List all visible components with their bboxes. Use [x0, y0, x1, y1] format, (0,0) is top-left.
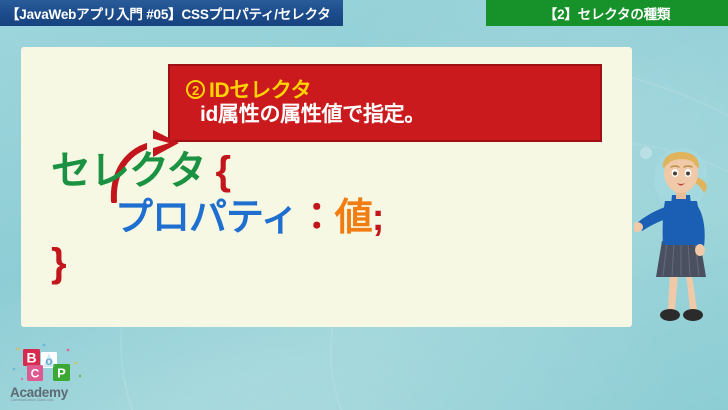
section-title-text: 【2】セレクタの種類 — [544, 3, 670, 23]
token-close-brace: } — [51, 241, 66, 285]
token-property: プロパティ — [115, 197, 298, 239]
token-selector: セレクタ — [51, 149, 205, 193]
syntax-line-declaration: プロパティ：値; — [51, 199, 383, 237]
instructor-avatar — [634, 135, 728, 335]
svg-text:B: B — [26, 350, 36, 366]
section-title-bar: 【2】セレクタの種類 — [486, 0, 728, 26]
callout-description: id属性の属性値で指定。 — [186, 102, 590, 127]
svg-text:C: C — [31, 367, 40, 381]
callout-heading-row: 2IDセレクタ — [186, 79, 590, 103]
course-title-text: 【JavaWebアプリ入門 #05】CSSプロパティ/セレクタ — [6, 3, 331, 23]
token-semicolon: ; — [372, 197, 384, 239]
css-syntax-block: セレクタ { プロパティ：値; } — [51, 151, 383, 283]
callout-number-badge: 2 — [186, 80, 205, 99]
token-value: 値 — [335, 197, 372, 239]
academy-logo-tagline: Communication Class club — [11, 398, 89, 402]
academy-logo-mark: B o C P — [10, 343, 88, 389]
course-title-bar: 【JavaWebアプリ入門 #05】CSSプロパティ/セレクタ — [0, 0, 343, 26]
content-panel: 2IDセレクタ id属性の属性値で指定。 セレクタ { プロパティ：値; } — [21, 47, 632, 327]
syntax-line-close: } — [51, 243, 383, 283]
callout-box: 2IDセレクタ id属性の属性値で指定。 — [168, 64, 602, 142]
svg-text:P: P — [57, 366, 66, 381]
syntax-line-selector: セレクタ { — [51, 151, 383, 191]
slide-canvas: 【JavaWebアプリ入門 #05】CSSプロパティ/セレクタ 【2】セレクタの… — [0, 0, 728, 410]
academy-logo: B o C P Academy Communication Class club — [10, 343, 88, 403]
token-colon: ： — [298, 197, 335, 239]
token-open-brace: { — [216, 149, 231, 193]
callout-heading-text: IDセレクタ — [209, 79, 311, 102]
